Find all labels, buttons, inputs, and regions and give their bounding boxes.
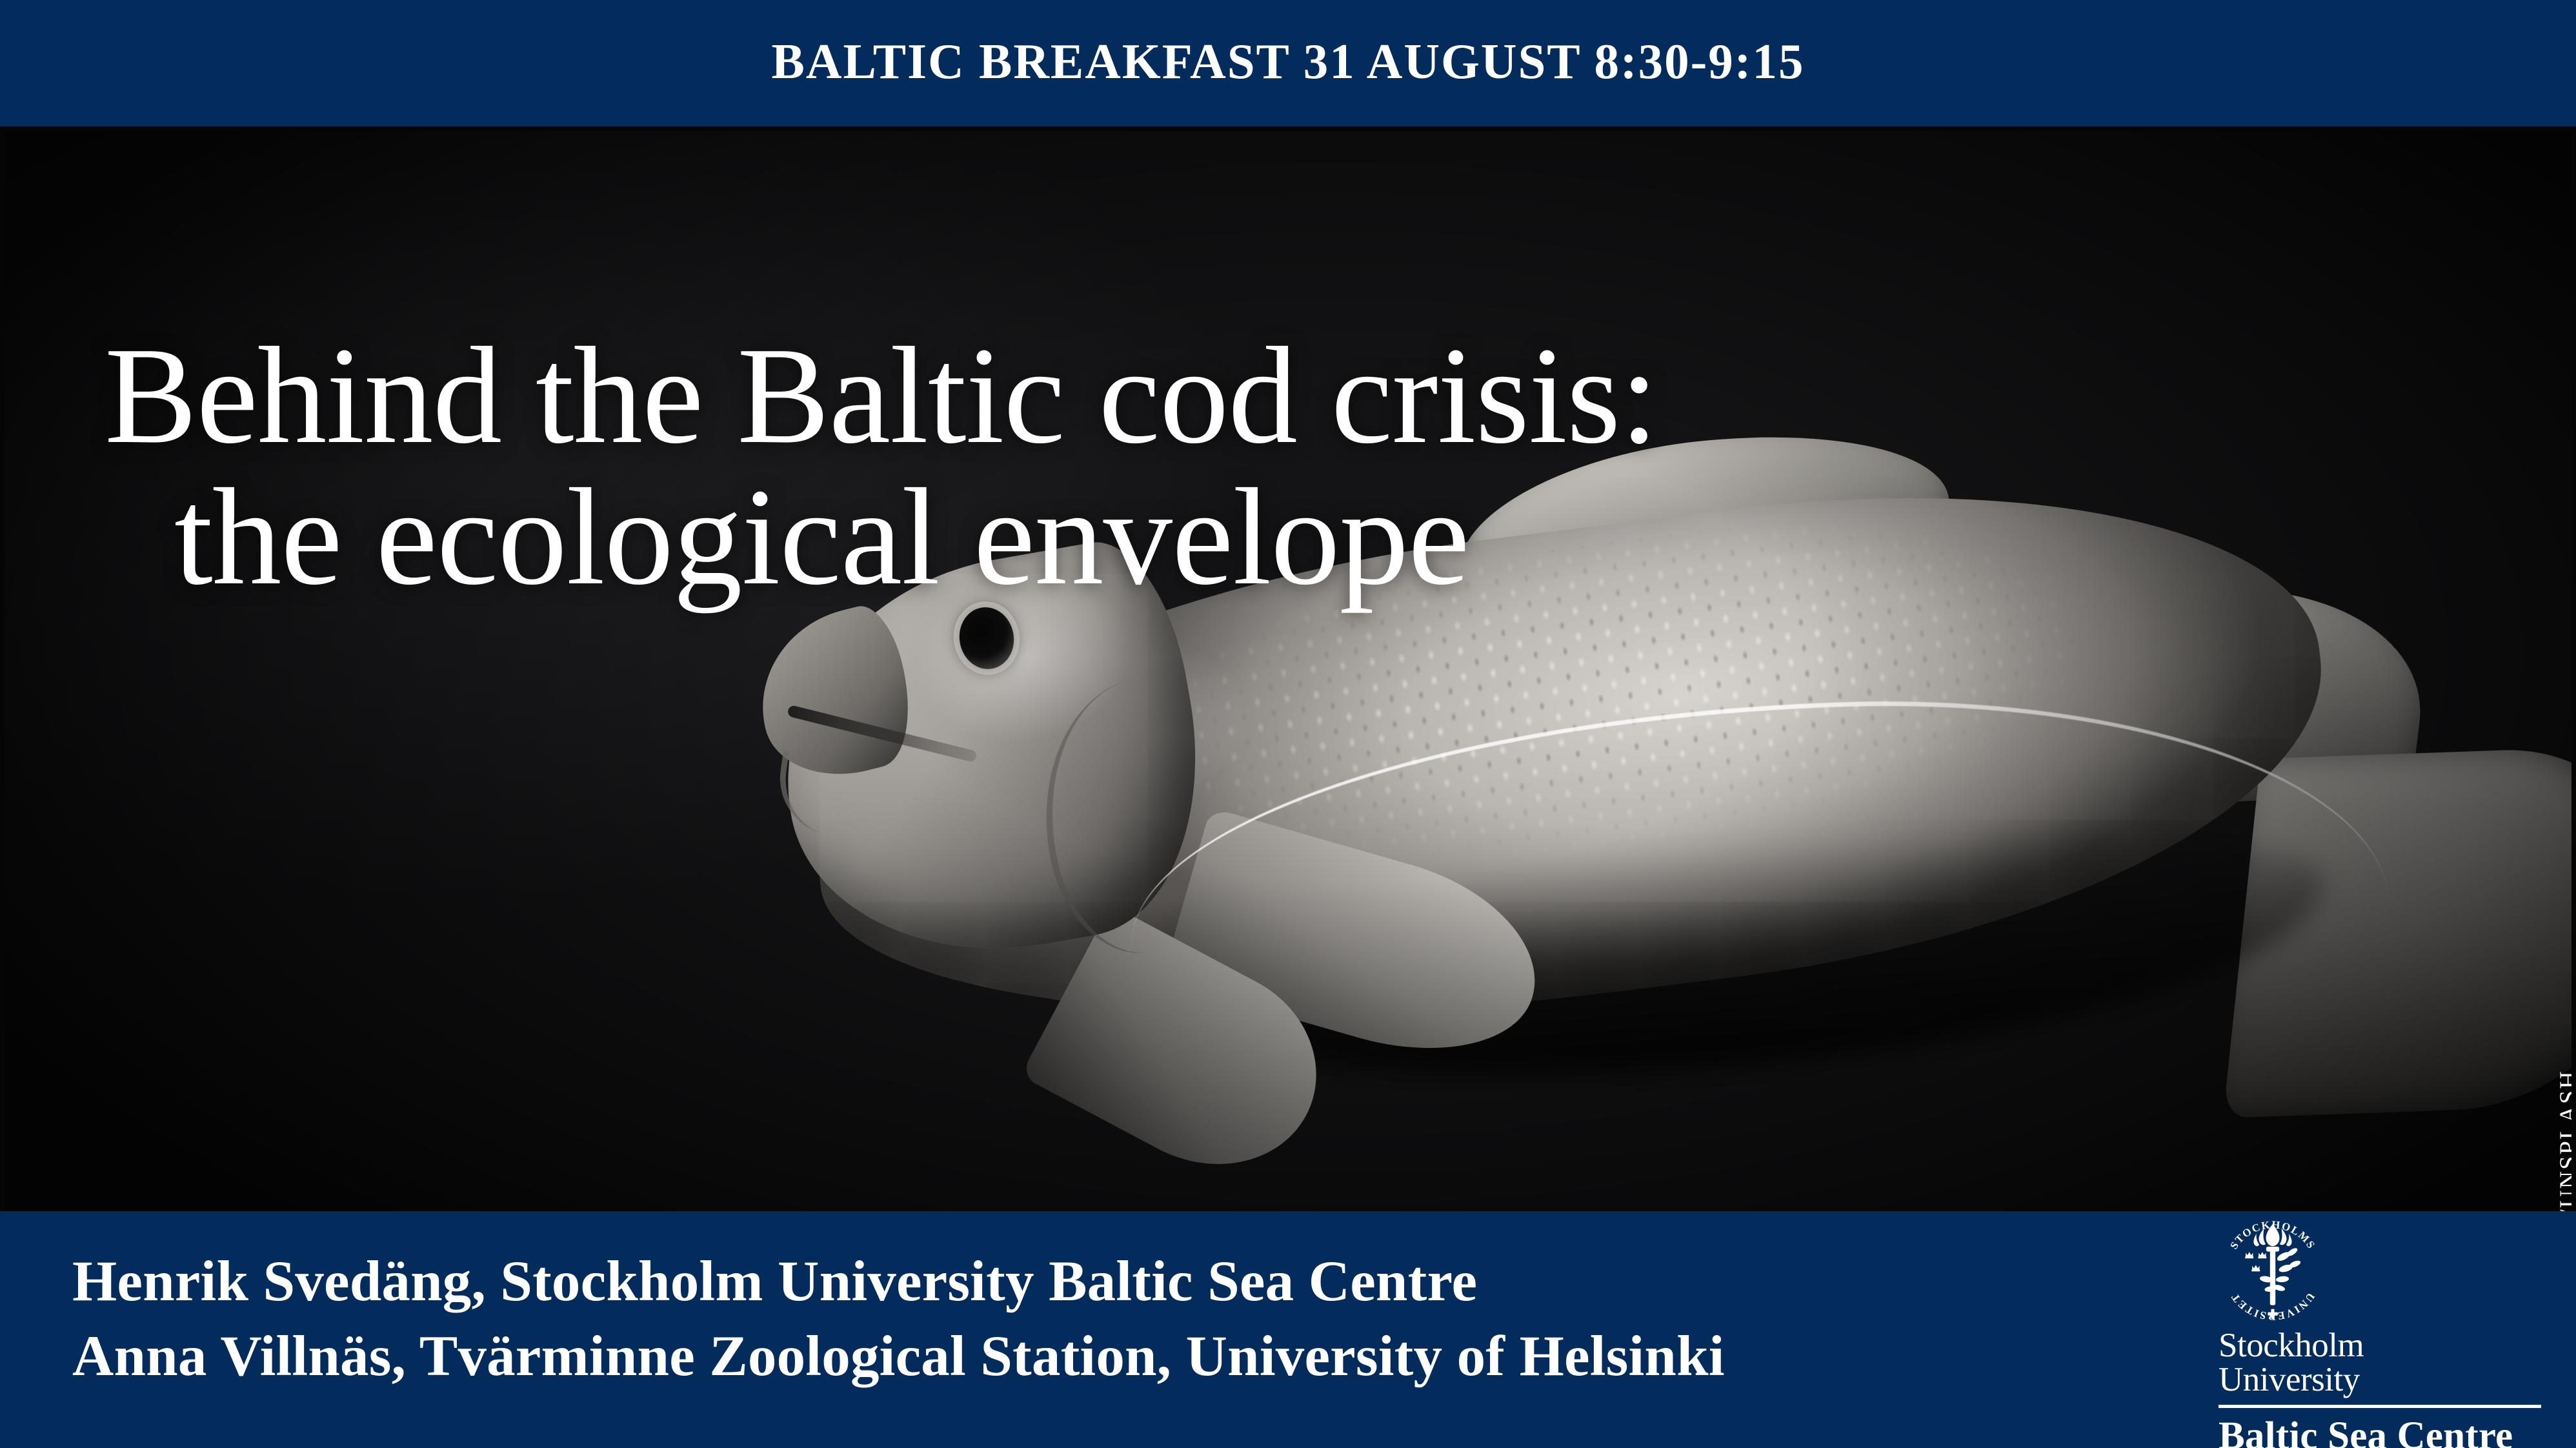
university-name-line-2: University (2219, 1363, 2364, 1397)
photo-credit: PHOTO: RICARDO RESENDE/UNSPLASH (2555, 1070, 2576, 1211)
logo-divider (2219, 1405, 2541, 1408)
logo-unit-name: Baltic Sea Centre (2219, 1416, 2513, 1448)
speaker-line-2: Anna Villnäs, Tvärminne Zoological Stati… (72, 1320, 1725, 1394)
event-poster: BALTIC BREAKFAST 31 AUGUST 8:30-9:15 Beh… (0, 0, 2576, 1448)
footer-bar: Henrik Svedäng, Stockholm University Bal… (0, 1211, 2576, 1448)
speaker-line-1: Henrik Svedäng, Stockholm University Bal… (72, 1245, 1725, 1320)
university-name: Stockholm University (2219, 1329, 2364, 1397)
university-name-line-1: Stockholm (2219, 1329, 2364, 1363)
event-banner-title: BALTIC BREAKFAST 31 AUGUST 8:30-9:15 (772, 37, 1805, 90)
photo-stage: Behind the Baltic cod crisis: the ecolog… (0, 126, 2576, 1211)
title-line-1: Behind the Baltic cod crisis: (105, 325, 2479, 466)
speaker-list: Henrik Svedäng, Stockholm University Bal… (72, 1245, 1725, 1394)
fish-barbel (772, 750, 860, 838)
university-seal-icon: STOCKHOLMS UNIVERSITET (2219, 1216, 2327, 1325)
stockholm-university-logo: STOCKHOLMS UNIVERSITET (2204, 1214, 2553, 1446)
top-banner: BALTIC BREAKFAST 31 AUGUST 8:30-9:15 (0, 0, 2576, 126)
title-line-2: the ecological envelope (105, 466, 2479, 607)
page-title: Behind the Baltic cod crisis: the ecolog… (105, 325, 2479, 608)
